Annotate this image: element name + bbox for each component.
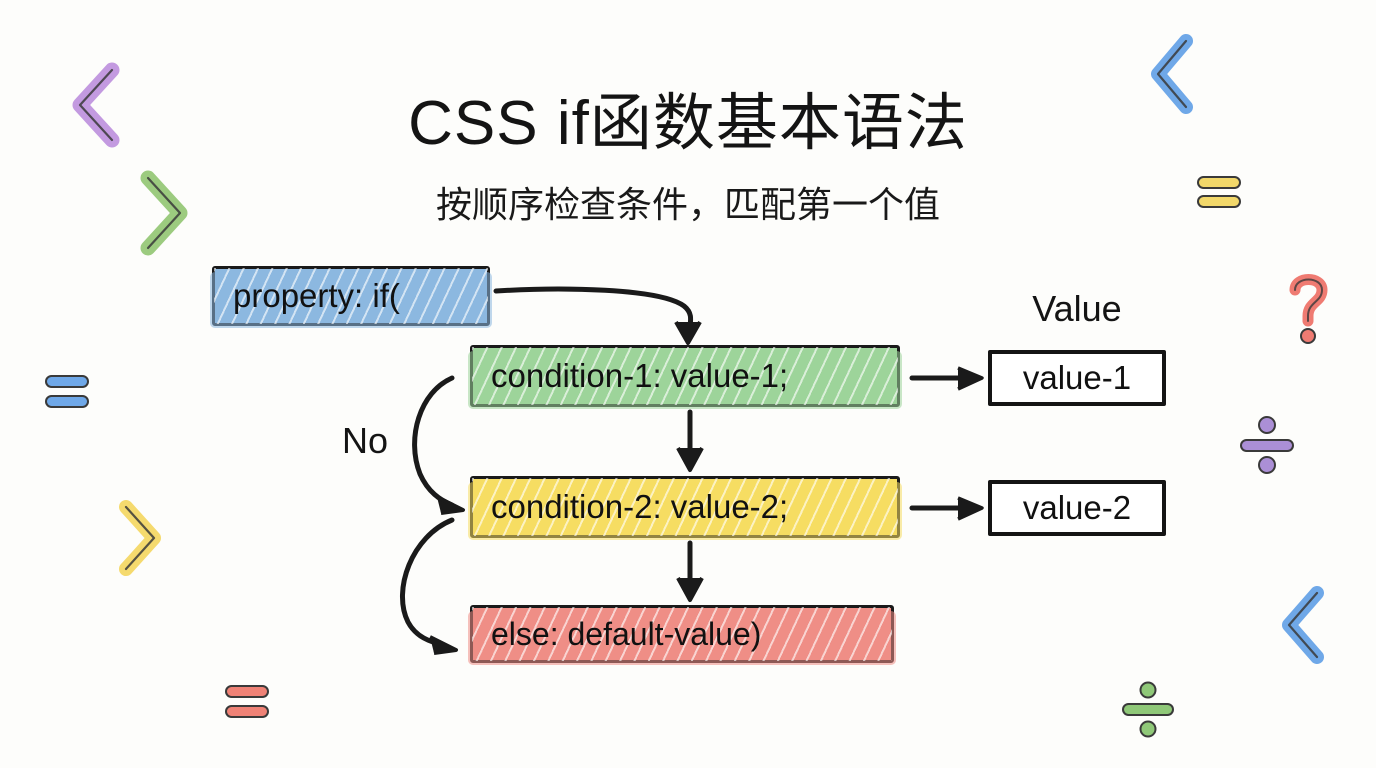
arrow-no-condition2-to-else — [402, 520, 456, 653]
decoration-divide-purple — [1236, 412, 1298, 478]
arrow-no-condition1-to-condition2 — [415, 378, 463, 513]
arrow-condition1-to-value1 — [912, 368, 982, 389]
result-box-value-2-label: value-2 — [1023, 489, 1131, 527]
decoration-chevron-right-yellow — [108, 498, 170, 578]
node-condition-1-label: condition-1: value-1; — [473, 357, 788, 395]
node-condition-2[interactable]: condition-2: value-2; — [470, 476, 900, 538]
decoration-divide-green — [1118, 678, 1178, 742]
decoration-equals-blue — [40, 368, 96, 416]
no-branch-label: No — [342, 420, 388, 462]
arrow-condition1-down — [678, 412, 702, 470]
result-box-value-2[interactable]: value-2 — [988, 480, 1166, 536]
result-box-value-1-label: value-1 — [1023, 359, 1131, 397]
page-title: CSS if函数基本语法 — [0, 72, 1376, 162]
node-else-default[interactable]: else: default-value) — [470, 605, 894, 663]
node-else-default-label: else: default-value) — [473, 616, 761, 653]
page-subtitle: 按顺序检查条件，匹配第一个值 — [0, 176, 1376, 228]
decoration-equals-red — [220, 678, 276, 726]
decoration-question-mark-red — [1282, 268, 1334, 350]
decoration-chevron-left-blue-bottom — [1272, 584, 1334, 666]
arrow-entry-to-condition1 — [496, 289, 700, 343]
result-box-value-1[interactable]: value-1 — [988, 350, 1166, 406]
value-column-header: Value — [988, 288, 1166, 330]
arrow-condition2-to-value2 — [912, 498, 982, 519]
node-condition-1[interactable]: condition-1: value-1; — [470, 345, 900, 407]
node-property-if[interactable]: property: if( — [212, 266, 490, 326]
node-property-if-label: property: if( — [215, 277, 400, 315]
node-condition-2-label: condition-2: value-2; — [473, 488, 788, 526]
arrow-condition2-down — [678, 543, 702, 600]
diagram-canvas: CSS if函数基本语法 按顺序检查条件，匹配第一个值 — [0, 0, 1376, 768]
